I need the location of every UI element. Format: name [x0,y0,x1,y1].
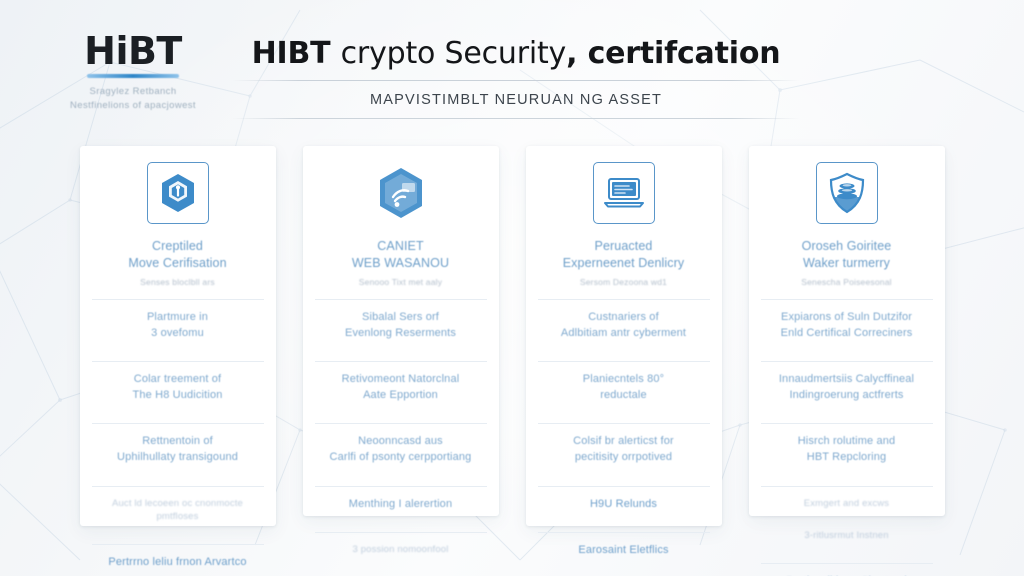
laptop-monitor-icon [593,162,655,224]
card-feature-item: Rettnentoin ofUphilhullaty transigound [90,424,266,474]
page-title: HIBT crypto Security, certifcation [232,36,800,71]
shield-database-icon [816,162,878,224]
card-feature-item: H9U Relunds [536,487,712,522]
card-subtitle: Senses bloclbll ars [140,277,215,288]
card-feature-item: Retivomeont NatorclnalAate Epportion [313,362,489,412]
card-feature-item: Menthing I alerertion [313,487,489,522]
card-feature-item: Custnariers ofAdlbitiam antr cyberment [536,300,712,350]
feature-card-certification[interactable]: CreptiledMove Cerifisation Senses bloclb… [80,146,276,526]
card-feature-item: Hisrch rolutime andHBT Repcloring [759,424,935,474]
brand-tagline-line2: Nestfinelions of apacjowest [28,99,238,113]
brand-tagline-line1: Sragylez Retbanch [28,85,238,99]
card-title: CreptiledMove Cerifisation [128,238,226,272]
card-feature-item: 3-ritlusrmut Instnen [759,519,935,551]
card-subtitle: Senescha Poiseesonal [801,277,891,288]
card-title: Oroseh GoiriteeWaker turmerry [802,238,892,272]
card-feature-item: Expiarons of Suln DutziforEnld Certifica… [759,300,935,350]
page-subtitle: MAPVISTIMBLT NEURUAN NG ASSET [232,92,800,108]
subtitle-divider [232,118,800,119]
page-title-bold-2: certifcation [588,36,781,71]
card-subtitle: Sersom Dezoona wd1 [580,277,667,288]
card-feature-item: Planiecntels 80°reductale [536,362,712,412]
card-feature-item: Colsif br alerticst forpecitisity orrpot… [536,424,712,474]
brand-underline [87,74,179,78]
brand-logo-text: HiBT [28,32,238,70]
card-title: PeruactedExperneenet Denlicry [563,238,685,272]
card-feature-item: Pertrrno leliu frnon Arvartco [90,545,266,576]
card-feature-item: dumtur lansding [313,566,489,576]
card-feature-item: Innaudmertsiis CalycffinealIndingroerung… [759,362,935,412]
card-feature-item: 3 possion nomoonfool [313,533,489,565]
card-feature-item: Parthwalith on Shortpud [759,564,935,576]
hexagon-shield-lock-icon [147,162,209,224]
page-title-light: crypto Security [341,36,566,71]
page-root: HiBT Sragylez Retbanch Nestfinelions of … [0,0,1024,576]
card-feature-item: Auct ld lecoeen oc cnonmoctepmtfloses [90,487,266,533]
card-feature-item: Exmgert and excws [759,487,935,519]
card-feature-item: Neoonncasd ausCarlfi of psonty cerpporti… [313,424,489,474]
page-title-comma: , [566,36,577,71]
card-feature-item: Plartmure in3 ovefomu [90,300,266,350]
card-feature-item: Colar treement ofThe H8 Uudicition [90,362,266,412]
card-subtitle: Senooo Tixt met aaly [359,277,442,288]
page-title-bold-1: HIBT [252,36,331,71]
feature-card-experience-delivery[interactable]: PeruactedExperneenet Denlicry Sersom Dez… [526,146,722,526]
feature-card-guarantee[interactable]: Oroseh GoiriteeWaker turmerry Senescha P… [749,146,945,516]
feature-card-grid: CreptiledMove Cerifisation Senses bloclb… [0,146,1024,534]
page-header: HiBT Sragylez Retbanch Nestfinelions of … [0,0,1024,140]
feature-card-web-standard[interactable]: CANIETWEB WASANOU Senooo Tixt met aaly S… [303,146,499,516]
brand-logo-block: HiBT Sragylez Retbanch Nestfinelions of … [28,32,238,113]
title-divider [232,80,800,81]
hexagon-network-icon [370,162,432,224]
card-feature-item: Sibalal Sers orfEvenlong Reserments [313,300,489,350]
title-block: HIBT crypto Security, certifcation MAPVI… [232,36,800,119]
card-feature-item: Earosaint Eletflics [536,533,712,568]
card-title: CANIETWEB WASANOU [352,238,449,272]
